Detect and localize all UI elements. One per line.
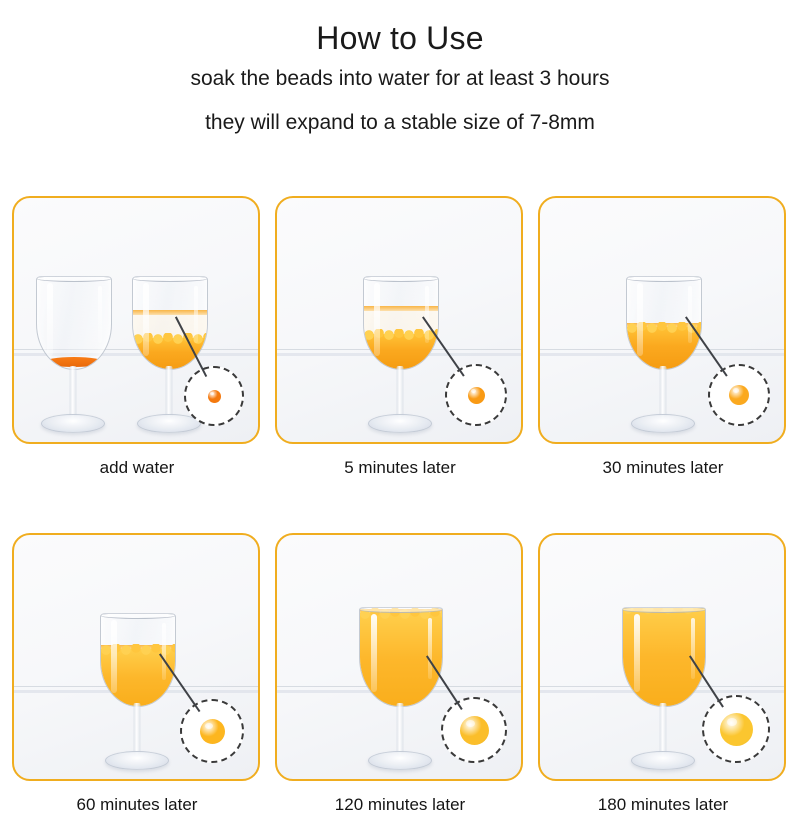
beverage-glass (363, 276, 437, 432)
expanded-bead (720, 713, 753, 746)
glass-rim (363, 276, 439, 282)
expanded-bead (460, 716, 489, 745)
subtitle-line-1: soak the beads into water for at least 3… (0, 64, 800, 94)
glass-highlight (111, 620, 117, 694)
bead-magnifier (708, 364, 770, 426)
bead-magnifier (702, 695, 770, 763)
page-header: How to Use soak the beads into water for… (0, 0, 800, 138)
page-title: How to Use (0, 18, 800, 58)
glass-stem (166, 366, 173, 418)
glass-foot (41, 414, 105, 433)
stage-row-bottom: 60 minutes later 120 minutes later 180 m… (12, 533, 788, 816)
beverage-glass (100, 613, 174, 769)
glass-highlight (425, 286, 429, 343)
stage-row-top: add water 5 minutes later 30 minutes lat… (12, 196, 788, 479)
glass-stem (70, 366, 77, 418)
stage-caption-2: 30 minutes later (538, 457, 788, 479)
expanded-bead (468, 387, 485, 404)
glass-highlight (143, 283, 149, 357)
stage-cell: 30 minutes later (538, 196, 788, 479)
stage-cell: 5 minutes later (275, 196, 525, 479)
how-to-use-infographic: { "header": { "title": "How to Use", "li… (0, 0, 800, 800)
expanded-bead (208, 390, 221, 403)
beverage-glass (626, 276, 700, 432)
glass-highlight (371, 614, 377, 692)
beverage-glass (359, 607, 441, 769)
stage-caption-4: 120 minutes later (275, 794, 525, 816)
glass-stem (397, 703, 404, 755)
bead-magnifier (445, 364, 507, 426)
glass-highlight (374, 283, 380, 357)
glass-stem (397, 366, 404, 418)
bead-magnifier (184, 366, 244, 426)
glass-highlight (47, 283, 53, 357)
glass-bowl (36, 276, 112, 370)
glass-foot (368, 414, 432, 433)
beverage-glass (36, 276, 110, 432)
glass-rim (36, 276, 112, 282)
stage-cell: add water (12, 196, 262, 479)
glass-highlight (98, 286, 102, 343)
stage-panel-2 (538, 196, 786, 444)
glass-highlight (688, 286, 692, 343)
glass-highlight (634, 614, 640, 692)
stage-panel-3 (12, 533, 260, 781)
glass-highlight (637, 283, 643, 357)
glass-highlight (194, 286, 198, 343)
glass-foot (368, 751, 432, 770)
expanded-bead (729, 385, 749, 405)
glass-foot (105, 751, 169, 770)
stage-caption-5: 180 minutes later (538, 794, 788, 816)
stage-grid: add water 5 minutes later 30 minutes lat… (12, 196, 788, 816)
glass-rim (100, 613, 176, 619)
stage-panel-1 (275, 196, 523, 444)
stage-panel-4 (275, 533, 523, 781)
stage-caption-3: 60 minutes later (12, 794, 262, 816)
glass-foot (631, 414, 695, 433)
stage-panel-5 (538, 533, 786, 781)
glass-highlight (428, 618, 432, 679)
stage-cell: 180 minutes later (538, 533, 788, 816)
bead-magnifier (441, 697, 507, 763)
glass-highlight (691, 618, 695, 679)
stage-cell: 60 minutes later (12, 533, 262, 816)
glass-foot (631, 751, 695, 770)
beverage-glass (622, 607, 704, 769)
glass-rim (626, 276, 702, 282)
stage-caption-1: 5 minutes later (275, 457, 525, 479)
stage-caption-0: add water (12, 457, 262, 479)
glass-stem (134, 703, 141, 755)
glass-stem (660, 703, 667, 755)
stage-panel-0 (12, 196, 260, 444)
glass-rim (132, 276, 208, 282)
glass-stem (660, 366, 667, 418)
glass-highlight (162, 623, 166, 680)
glass-bowl (359, 607, 443, 707)
glass-foot (137, 414, 201, 433)
expanded-bead (200, 719, 225, 744)
glass-bowl (622, 607, 706, 707)
bead-magnifier (180, 699, 244, 763)
stage-cell: 120 minutes later (275, 533, 525, 816)
subtitle-line-2: they will expand to a stable size of 7-8… (0, 108, 800, 138)
